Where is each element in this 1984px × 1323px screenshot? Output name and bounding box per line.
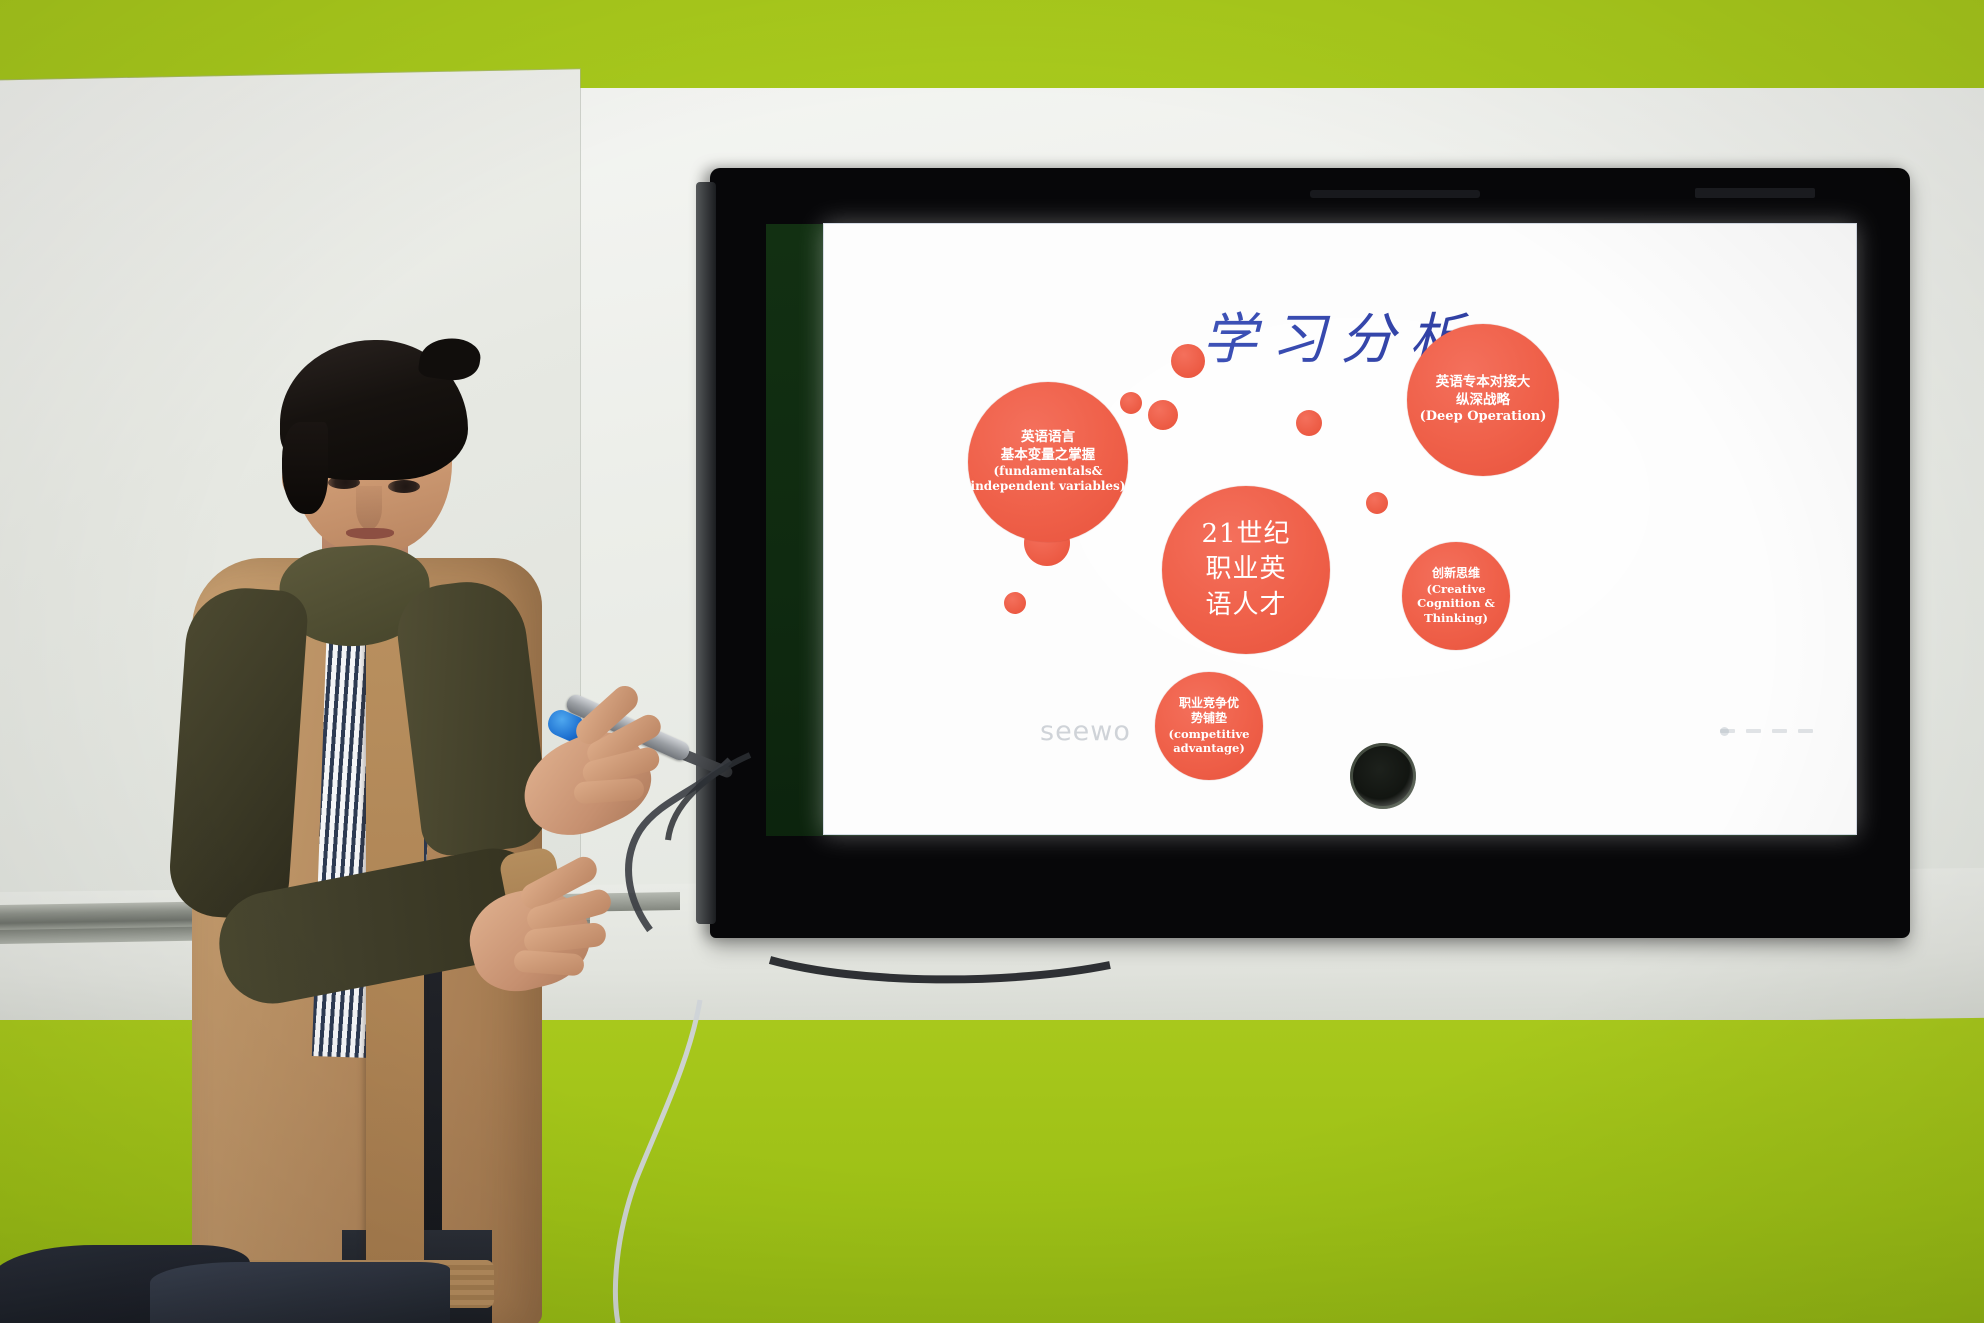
bubble-line: 21世纪	[1201, 517, 1290, 552]
hair-tuft	[417, 334, 482, 384]
classroom-scene: 学习分析 英语语言 基本变量之掌握 (fundamentals& indepen…	[0, 0, 1984, 1323]
bubble-line: 英语专本对接大	[1436, 374, 1531, 391]
sleeve-left-upper	[167, 584, 310, 922]
deep-operation-bubble[interactable]: 英语专本对接大 纵深战略 (Deep Operation)	[1407, 324, 1559, 476]
accent-dot	[1120, 392, 1142, 414]
bubble-line: 纵深战略	[1456, 392, 1510, 409]
dark-object-foreground-2	[150, 1262, 450, 1323]
accent-dot	[1171, 344, 1205, 378]
bubble-en-line: Thinking)	[1424, 611, 1488, 626]
bubble-line: 创新思维	[1432, 566, 1480, 581]
display-model-label	[1695, 188, 1815, 198]
bubble-line: 基本变量之掌握	[1001, 447, 1096, 464]
accent-dot	[1296, 410, 1322, 436]
nose	[356, 486, 382, 530]
bubble-en-line: (Deep Operation)	[1420, 409, 1547, 426]
creative-thinking-bubble[interactable]: 创新思维 (Creative Cognition & Thinking)	[1402, 542, 1510, 650]
display-brand-label: seewo	[1040, 716, 1240, 750]
slide-title: 学习分析	[824, 294, 1856, 374]
presentation-slide[interactable]: 学习分析 英语语言 基本变量之掌握 (fundamentals& indepen…	[824, 224, 1856, 834]
bubble-en-line: Cognition &	[1417, 596, 1495, 611]
display-speaker-puck	[1350, 743, 1416, 809]
display-top-sensor-strip	[1310, 190, 1480, 198]
bubble-en-line: independent variables)	[971, 479, 1126, 494]
center-bubble[interactable]: 21世纪 职业英 语人才	[1162, 486, 1330, 654]
bubble-en-line: (fundamentals&	[994, 464, 1103, 479]
display-control-indicators[interactable]	[1720, 724, 1930, 738]
accent-dot	[1004, 592, 1026, 614]
interactive-display[interactable]: 学习分析 英语语言 基本变量之掌握 (fundamentals& indepen…	[710, 168, 1910, 938]
accent-dot	[1366, 492, 1388, 514]
bubble-line: 职业英	[1205, 552, 1286, 587]
bubble-line: 语人才	[1205, 588, 1286, 623]
hair-sideburn	[282, 422, 328, 514]
bubble-line: 职业竞争优	[1179, 696, 1239, 711]
presenter	[170, 330, 690, 1323]
menu-line-icon[interactable]	[1772, 729, 1787, 733]
english-fundamentals-bubble[interactable]: 英语语言 基本变量之掌握 (fundamentals& independent …	[968, 382, 1128, 542]
menu-line-icon[interactable]	[1798, 729, 1813, 733]
power-dot-icon[interactable]	[1720, 727, 1729, 736]
display-side-panel	[696, 182, 716, 924]
eye-right	[388, 480, 420, 493]
mouth	[346, 528, 394, 539]
bubble-line: 英语语言	[1021, 429, 1075, 446]
accent-dot	[1148, 400, 1178, 430]
bubble-en-line: (Creative	[1426, 582, 1485, 597]
menu-line-icon[interactable]	[1746, 729, 1761, 733]
